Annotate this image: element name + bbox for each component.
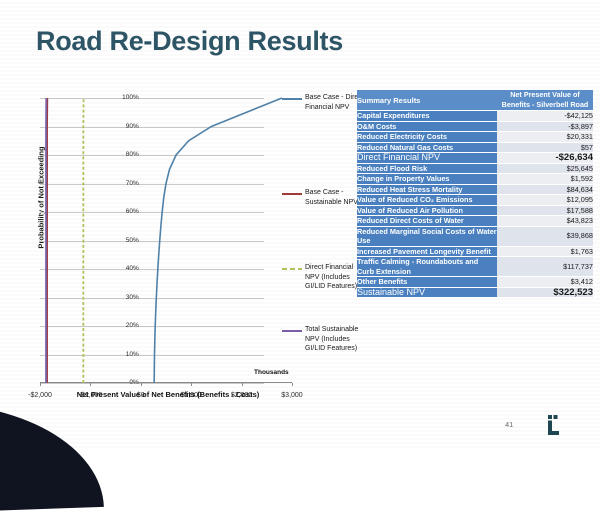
- table-row: Change in Property Values$1,592: [357, 174, 593, 185]
- table-row-value: $39,868: [497, 226, 593, 246]
- legend-label-2: Direct Financial NPV (Includes GI/LID Fe…: [305, 263, 365, 292]
- table-row-label: Sustainable NPV: [357, 287, 497, 298]
- table-row: Value of Reduced CO₂ Emissions$12,095: [357, 195, 593, 206]
- table-header-label: Summary Results: [357, 90, 497, 111]
- legend-swatch-1: [282, 193, 302, 195]
- table-row: Direct Financial NPV-$26,634: [357, 153, 593, 164]
- legend-label-3: Total Sustainable NPV (Includes GI/LID F…: [305, 325, 365, 354]
- table-row-value: $3,412: [497, 277, 593, 288]
- table-row-label: Reduced Marginal Social Costs of Water U…: [357, 226, 497, 246]
- chart-x-tick-mark: [292, 383, 293, 386]
- table-row: Reduced Flood Risk$25,645: [357, 163, 593, 174]
- table-row-value: $1,592: [497, 174, 593, 185]
- table-row-label: Capital Expenditures: [357, 111, 497, 122]
- table-row: Reduced Direct Costs of Water$43,823: [357, 216, 593, 227]
- cdf-chart: Probability of Not Exceeding 0%10%20%30%…: [18, 88, 360, 410]
- chart-series-0: [154, 98, 282, 383]
- page-number: 41: [505, 420, 513, 429]
- chart-series-layer: [40, 98, 278, 385]
- table-row-value: $57: [497, 142, 593, 153]
- table-row-label: Value of Reduced Air Pollution: [357, 205, 497, 216]
- legend-swatch-2: [282, 268, 302, 270]
- table-row-label: O&M Costs: [357, 121, 497, 132]
- table-row-value: $322,523: [497, 287, 593, 298]
- table-row-value: $20,331: [497, 132, 593, 143]
- table-row-label: Other Benefits: [357, 277, 497, 288]
- table-row-value: $12,095: [497, 195, 593, 206]
- table-row-label: Reduced Heat Stress Mortality: [357, 184, 497, 195]
- table-row: Capital Expenditures-$42,125: [357, 111, 593, 122]
- legend-swatch-3: [282, 330, 302, 332]
- table-row-value: $117,737: [497, 257, 593, 277]
- table-row-value: -$42,125: [497, 111, 593, 122]
- table-row: Value of Reduced Air Pollution$17,588: [357, 205, 593, 216]
- legend-label-0: Base Case - Direct Financial NPV: [305, 93, 365, 112]
- table-row-value: $84,634: [497, 184, 593, 195]
- table-row: Sustainable NPV$322,523: [357, 287, 593, 298]
- table-header-row: Summary Results Net Present Value of Ben…: [357, 90, 593, 111]
- chart-plot-area: 0%10%20%30%40%50%60%70%80%90%100%-$2,000…: [86, 98, 264, 383]
- legend-swatch-0: [282, 98, 302, 100]
- table-row-label: Reduced Flood Risk: [357, 163, 497, 174]
- table-row: Traffic Calming - Roundabouts and Curb E…: [357, 257, 593, 277]
- table-row: Reduced Heat Stress Mortality$84,634: [357, 184, 593, 195]
- table-row-value: -$26,634: [497, 153, 593, 164]
- table-row-label: Change in Property Values: [357, 174, 497, 185]
- table-row-label: Reduced Natural Gas Costs: [357, 142, 497, 153]
- table-row-value: $25,645: [497, 163, 593, 174]
- chart-units-note: Thousands: [254, 369, 289, 376]
- summary-results-table: Summary Results Net Present Value of Ben…: [357, 90, 593, 298]
- table-row-value: $17,588: [497, 205, 593, 216]
- page-title: Road Re-Design Results: [36, 26, 343, 57]
- table-row: O&M Costs-$3,897: [357, 121, 593, 132]
- table-row-value: $1,763: [497, 246, 593, 257]
- table-row: Other Benefits$3,412: [357, 277, 593, 288]
- table-row-label: Traffic Calming - Roundabouts and Curb E…: [357, 257, 497, 277]
- table-row-label: Reduced Electricity Costs: [357, 132, 497, 143]
- table-row: Increased Pavement Longevity Benefit$1,7…: [357, 246, 593, 257]
- table-row-value: $43,823: [497, 216, 593, 227]
- table-row: Reduced Electricity Costs$20,331: [357, 132, 593, 143]
- table-row-label: Reduced Direct Costs of Water: [357, 216, 497, 227]
- table-header-value: Net Present Value of Benefits - Silverbe…: [497, 90, 593, 111]
- l-logo: [540, 412, 566, 438]
- table-row: Reduced Natural Gas Costs$57: [357, 142, 593, 153]
- legend-label-1: Base Case - Sustainable NPV: [305, 188, 365, 207]
- chart-x-axis-label: Net Present Value of Net Benefits (Benef…: [18, 390, 318, 399]
- table-row: Reduced Marginal Social Costs of Water U…: [357, 226, 593, 246]
- table-row-label: Value of Reduced CO₂ Emissions: [357, 195, 497, 206]
- table-row-label: Direct Financial NPV: [357, 153, 497, 164]
- table-row-value: -$3,897: [497, 121, 593, 132]
- table-row-label: Increased Pavement Longevity Benefit: [357, 246, 497, 257]
